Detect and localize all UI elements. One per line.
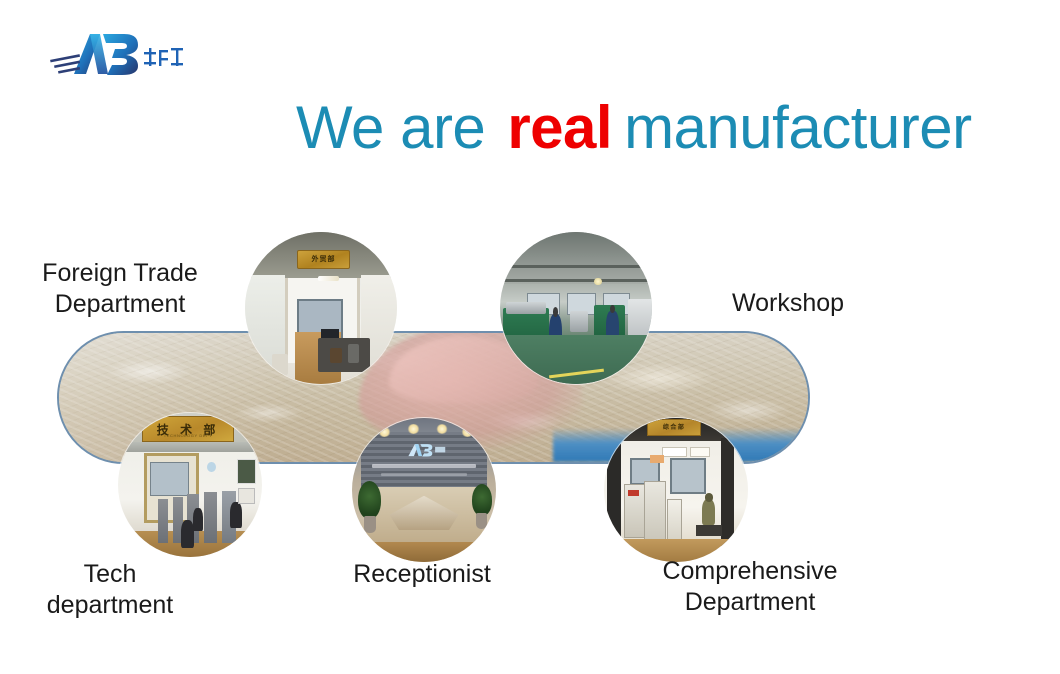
label-tech-line2: department bbox=[10, 590, 210, 621]
company-logo-mark bbox=[46, 28, 186, 80]
photo-comprehensive-department-image: 综合部 bbox=[604, 418, 748, 562]
wall-logo-mark bbox=[401, 441, 447, 458]
photo-tech-department-image: 技 术 部 TECHNOLOGY DEPT bbox=[118, 413, 262, 557]
label-receptionist-line1: Receptionist bbox=[332, 559, 512, 590]
photo-tech-department: 技 术 部 TECHNOLOGY DEPT bbox=[118, 413, 262, 557]
label-comprehensive-line2: Department bbox=[640, 587, 860, 618]
label-tech-line1: Tech bbox=[10, 559, 210, 590]
photo-foreign-trade: 外贸部 bbox=[245, 232, 397, 384]
photo-foreign-trade-sign-text: 外贸部 bbox=[298, 254, 350, 264]
label-foreign-trade-department: Foreign Trade Department bbox=[20, 258, 220, 320]
photo-receptionist-wall-logo bbox=[401, 441, 447, 458]
logo-chinese-characters bbox=[144, 48, 183, 66]
photo-comprehensive-sign-text: 综合部 bbox=[648, 422, 700, 431]
label-foreign-trade-line1: Foreign Trade bbox=[20, 258, 220, 289]
photo-workshop-image bbox=[500, 232, 652, 384]
label-workshop-line1: Workshop bbox=[688, 288, 888, 319]
label-foreign-trade-line2: Department bbox=[20, 289, 220, 320]
photo-comprehensive-sign: 综合部 bbox=[647, 419, 701, 435]
slide-canvas: We arerealmanufacturer 外贸部 bbox=[0, 0, 1060, 674]
headline-tail: manufacturer bbox=[618, 94, 972, 161]
label-comprehensive-department: Comprehensive Department bbox=[640, 556, 860, 618]
label-tech-department: Tech department bbox=[10, 559, 210, 621]
photo-receptionist-image bbox=[352, 418, 496, 562]
photo-workshop bbox=[500, 232, 652, 384]
page-title: We arerealmanufacturer bbox=[296, 92, 1016, 164]
photo-tech-sign: 技 术 部 TECHNOLOGY DEPT bbox=[142, 416, 233, 442]
photo-receptionist bbox=[352, 418, 496, 562]
headline-lead: We are bbox=[296, 94, 485, 161]
headline-emphasis: real bbox=[485, 94, 618, 161]
company-logo bbox=[46, 28, 186, 80]
label-workshop: Workshop bbox=[688, 288, 888, 319]
label-comprehensive-line1: Comprehensive bbox=[640, 556, 860, 587]
photo-foreign-trade-image: 外贸部 bbox=[245, 232, 397, 384]
label-receptionist: Receptionist bbox=[332, 559, 512, 590]
photo-foreign-trade-sign: 外贸部 bbox=[297, 250, 351, 269]
photo-comprehensive-department: 综合部 bbox=[604, 418, 748, 562]
photo-tech-sign-subtext: TECHNOLOGY DEPT bbox=[143, 433, 232, 438]
